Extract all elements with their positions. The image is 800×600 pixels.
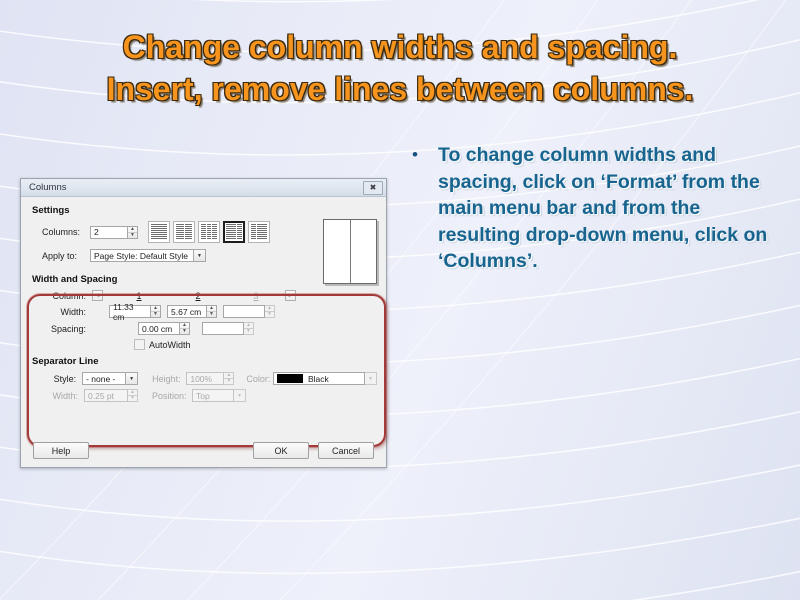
color-label: Color: — [246, 374, 273, 384]
dialog-title: Columns — [29, 182, 363, 193]
height-stepper[interactable]: ▲▼ — [224, 372, 234, 385]
columns-label: Columns: — [42, 227, 90, 237]
preview-column-1 — [324, 220, 350, 283]
slide-body: • To change column widths and spacing, c… — [406, 142, 778, 275]
autowidth-checkbox[interactable] — [134, 339, 145, 350]
color-name: Black — [308, 374, 329, 384]
height-label: Height: — [152, 374, 186, 384]
preset-one-column[interactable] — [148, 221, 170, 243]
help-button[interactable]: Help — [33, 442, 89, 459]
settings-heading: Settings — [32, 205, 377, 216]
color-chevron-down-icon[interactable]: ▼ — [365, 372, 377, 385]
columns-preview — [323, 219, 377, 284]
apply-to-label: Apply to: — [42, 251, 90, 261]
autowidth-label: AutoWidth — [149, 340, 191, 350]
position-value[interactable]: Top — [192, 389, 234, 402]
slide-title-line-2: Insert, remove lines between columns. — [0, 68, 800, 110]
width-input-column-2[interactable]: 5.67 cm — [167, 305, 207, 318]
columns-count-stepper[interactable]: ▲▼ — [128, 226, 138, 239]
sep-width-label: Width: — [38, 391, 84, 401]
spacing-input-2[interactable] — [202, 322, 244, 335]
dialog-titlebar[interactable]: Columns ✖ — [21, 179, 386, 197]
preset-two-columns-equal[interactable] — [173, 221, 195, 243]
slide-title: Change column widths and spacing. Insert… — [0, 26, 800, 110]
column-label: Column: — [38, 291, 92, 301]
column-preset-group — [148, 221, 270, 243]
spacing-input-1[interactable]: 0.00 cm — [138, 322, 180, 335]
width-stepper-column-1[interactable]: ▲▼ — [151, 305, 161, 318]
column-header-1: 1 — [109, 291, 169, 301]
position-chevron-down-icon[interactable]: ▼ — [234, 389, 246, 402]
sep-width-input[interactable]: 0.25 pt — [84, 389, 128, 402]
columns-count-input[interactable]: 2 — [90, 226, 128, 239]
slide-canvas: Change column widths and spacing. Insert… — [0, 0, 800, 600]
spacing-label: Spacing: — [38, 324, 92, 334]
close-icon[interactable]: ✖ — [363, 181, 383, 195]
width-stepper-column-3[interactable]: ▲▼ — [265, 305, 275, 318]
bullet-item-text: To change column widths and spacing, cli… — [438, 142, 778, 275]
column-header-2: 2 — [169, 291, 227, 301]
width-stepper-column-2[interactable]: ▲▼ — [207, 305, 217, 318]
width-label: Width: — [38, 307, 92, 317]
dialog-footer: Help OK Cancel — [21, 442, 386, 459]
preset-two-columns-left-wide[interactable] — [223, 221, 245, 243]
separator-line-heading: Separator Line — [32, 356, 377, 367]
slide-title-line-1: Change column widths and spacing. — [0, 26, 800, 68]
spacing-stepper-2[interactable]: ▲▼ — [244, 322, 254, 335]
color-swatch — [277, 374, 303, 383]
width-input-column-3[interactable] — [223, 305, 265, 318]
apply-to-chevron-down-icon[interactable]: ▼ — [194, 249, 206, 262]
width-input-column-1[interactable]: 11.33 cm — [109, 305, 151, 318]
ok-button[interactable]: OK — [253, 442, 309, 459]
position-label: Position: — [152, 391, 192, 401]
next-column-arrow-icon[interactable]: ► — [285, 290, 296, 301]
previous-column-arrow-icon[interactable]: ◄ — [92, 290, 103, 301]
preset-three-columns-equal[interactable] — [198, 221, 220, 243]
sep-width-stepper[interactable]: ▲▼ — [128, 389, 138, 402]
style-value[interactable]: - none - — [82, 372, 126, 385]
dialog-body: Settings Columns: 2 ▲▼ — [21, 197, 386, 467]
cancel-button[interactable]: Cancel — [318, 442, 374, 459]
preset-two-columns-right-wide[interactable] — [248, 221, 270, 243]
style-label: Style: — [38, 374, 82, 384]
color-value[interactable]: Black — [273, 372, 365, 385]
style-chevron-down-icon[interactable]: ▼ — [126, 372, 138, 385]
column-header-3: 3 — [227, 291, 285, 301]
columns-dialog: Columns ✖ Settings Columns: 2 ▲▼ — [20, 178, 387, 468]
preview-column-2 — [351, 220, 377, 283]
height-input[interactable]: 100% — [186, 372, 224, 385]
spacing-stepper-1[interactable]: ▲▼ — [180, 322, 190, 335]
apply-to-value[interactable]: Page Style: Default Style — [90, 249, 194, 262]
bullet-list-item: • To change column widths and spacing, c… — [406, 142, 778, 275]
bullet-marker-icon: • — [406, 142, 438, 168]
